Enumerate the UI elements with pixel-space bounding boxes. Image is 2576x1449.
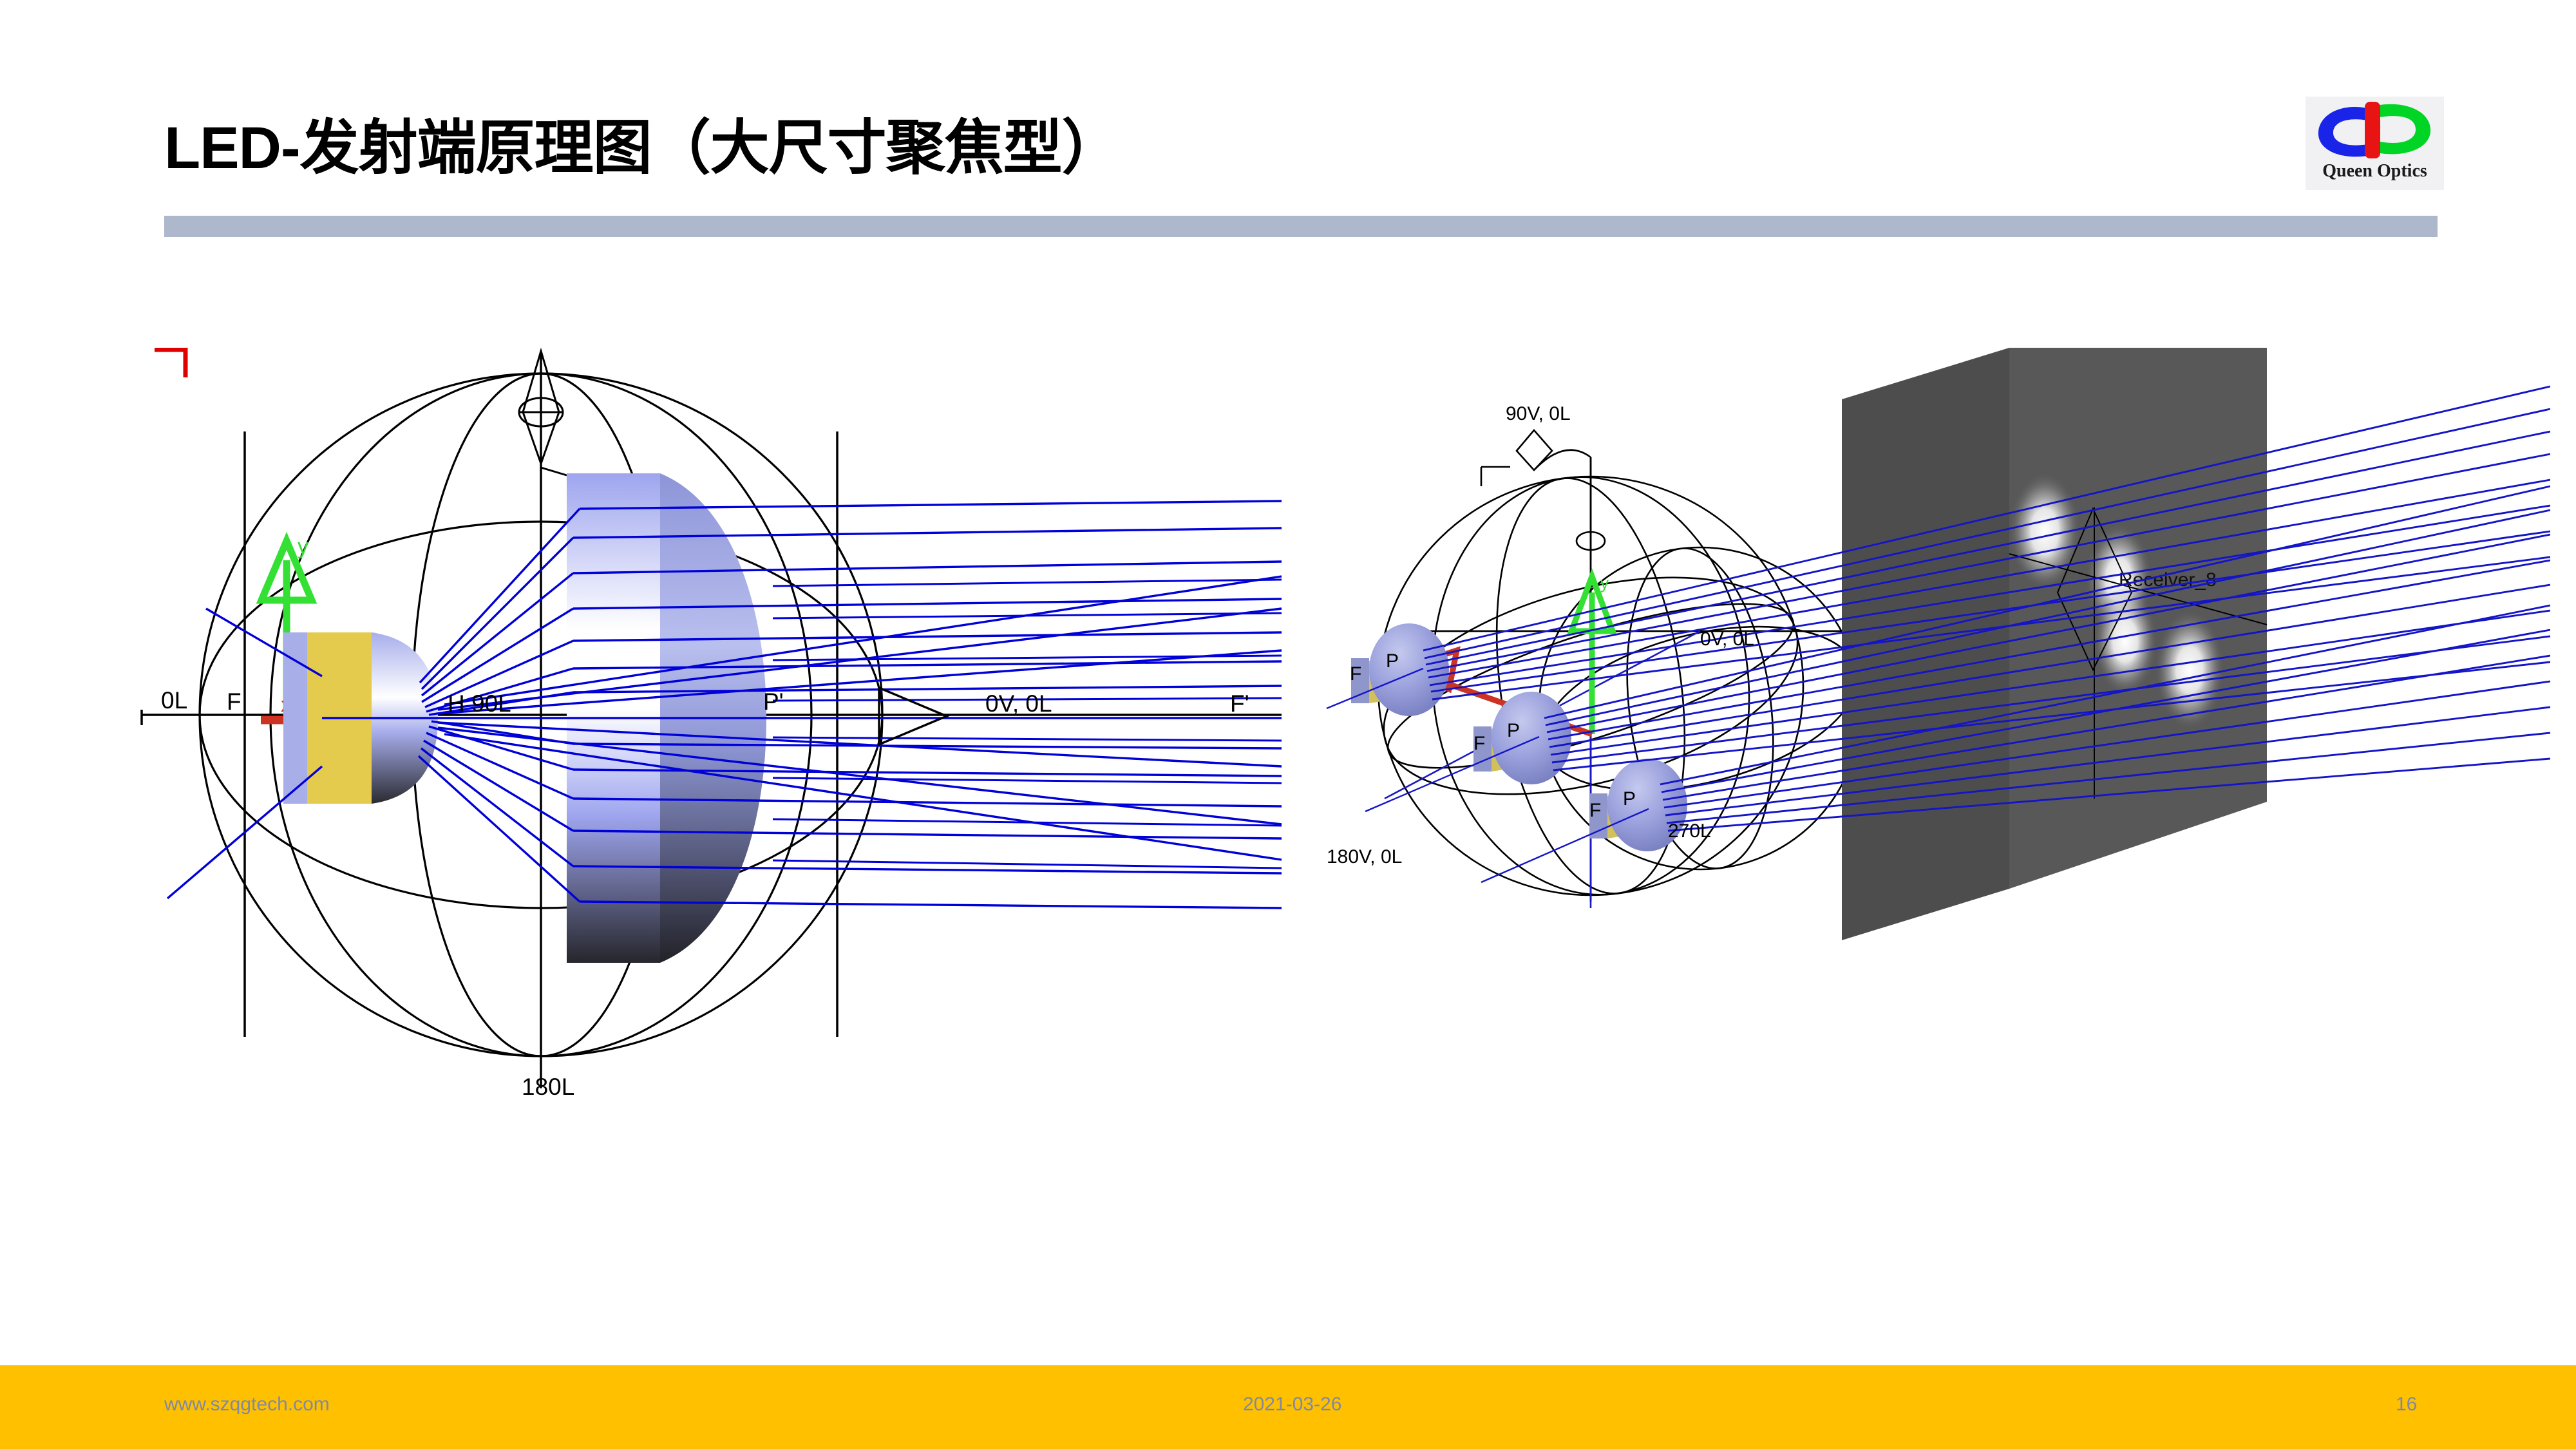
- label-axis-right-angle-left: 0V, 0L: [985, 690, 1052, 717]
- label-top-right-fig: 90V, 0L: [1506, 403, 1571, 424]
- label-axis-bottom-left: 180L: [522, 1074, 574, 1100]
- label-focal-back-left: F': [1230, 690, 1249, 717]
- spindle-marker-icon: [519, 351, 567, 475]
- label-principal-3: P: [1623, 788, 1636, 810]
- page-title: LED-发射端原理图（大尺寸聚焦型）: [164, 100, 1121, 185]
- label-principal-2: P: [1507, 720, 1520, 741]
- axis-label-y: y: [298, 535, 308, 559]
- label-origin-left: 0L: [161, 687, 187, 714]
- label-right-right-fig: 0V, 0L: [1700, 629, 1754, 650]
- label-principal-plane-prime-left: P': [763, 688, 784, 715]
- footer-website[interactable]: www.szqgtech.com: [164, 1394, 330, 1416]
- aperture-stop-marker-icon: [879, 688, 947, 744]
- title-divider-band: [164, 216, 2438, 237]
- receiver-plane: Receiver_8: [1842, 348, 2267, 940]
- label-principal-plane-left: H 90L: [448, 690, 511, 717]
- label-principal-1: P: [1386, 650, 1399, 672]
- slide-footer: www.szqgtech.com 2021-03-26 16: [0, 1365, 2576, 1449]
- figure-left-optical-layout: y x: [129, 316, 1288, 1140]
- figure-right-3d-layout: y x: [1288, 348, 2550, 1056]
- logo-mark-icon: [2306, 97, 2444, 164]
- footer-date: 2021-03-26: [1243, 1394, 1341, 1416]
- label-focal-3: F: [1589, 800, 1601, 821]
- spindle-marker-right-icon: [1481, 430, 1605, 560]
- logo-wordmark: Queen Optics: [2306, 161, 2444, 182]
- axis-label-y-right: y: [1600, 573, 1609, 592]
- selection-bracket-icon: [153, 348, 189, 380]
- queen-optics-logo: Queen Optics: [2306, 97, 2444, 190]
- slide-canvas: LED-发射端原理图（大尺寸聚焦型） Queen Optics: [0, 0, 2576, 1449]
- label-focal-2: F: [1473, 733, 1485, 754]
- label-focal-front-left: F: [227, 688, 241, 715]
- footer-page-number: 16: [2396, 1394, 2417, 1416]
- label-bottom-right-fig: 270L: [1668, 820, 1711, 842]
- label-left-right-fig: 180V, 0L: [1327, 846, 1402, 867]
- label-focal-1: F: [1350, 663, 1361, 685]
